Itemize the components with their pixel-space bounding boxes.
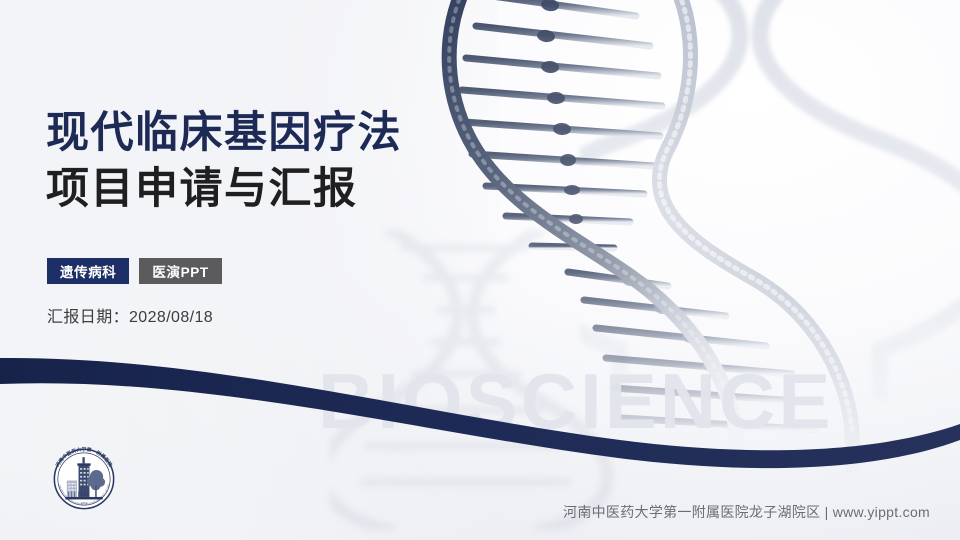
footer-text: 河南中医药大学第一附属医院龙子湖院区 | www.yippt.com — [563, 502, 930, 522]
title-line-2: 项目申请与汇报 — [46, 162, 566, 218]
title-line-1: 现代临床基因疗法 — [46, 106, 566, 162]
logo-year: 1953 — [81, 501, 88, 505]
tag-brand: 医演PPT — [139, 258, 221, 284]
tag-department: 遗传病科 — [47, 258, 129, 284]
presentation-slide: BIOSCIENCE 现代临床基因疗法 项目申请与汇报 遗传病科 医演PPT 汇… — [0, 0, 960, 540]
title-block: 现代临床基因疗法 项目申请与汇报 — [46, 106, 566, 218]
tag-row: 遗传病科 医演PPT — [47, 258, 222, 284]
report-date: 汇报日期：2028/08/18 — [47, 303, 213, 327]
hospital-seal-logo: 河南中医药大学第一附属医院 THE FIRST AFFILIATED HOSPI… — [45, 440, 123, 518]
